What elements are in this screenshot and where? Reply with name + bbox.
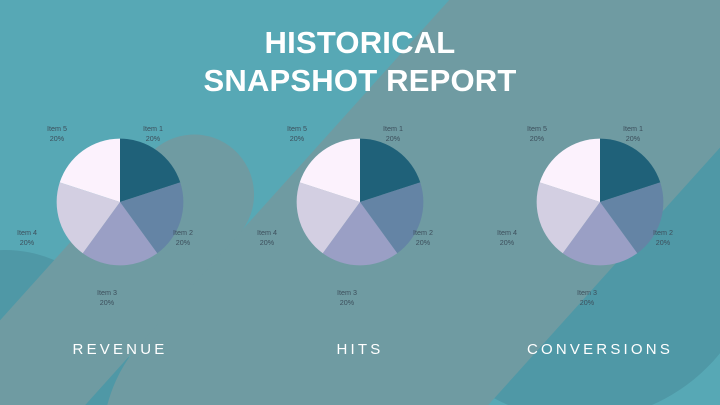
pie-label-item4: Item 4 20% — [257, 228, 277, 249]
pie-label-item5: Item 5 20% — [47, 124, 67, 145]
pie-chart-conversions[interactable] — [534, 136, 666, 268]
chart-caption-hits: HITS — [245, 341, 475, 358]
pie-label-item4: Item 4 20% — [497, 228, 517, 249]
chart-block-conversions: Item 1 20% Item 2 20% Item 3 20% Item 4 … — [485, 118, 715, 368]
pie-label-item5: Item 5 20% — [287, 124, 307, 145]
title-line-1: HISTORICAL — [0, 24, 720, 62]
pie-label-item2: Item 2 20% — [173, 228, 193, 249]
pie-label-item2: Item 2 20% — [413, 228, 433, 249]
pie-label-item2: Item 2 20% — [653, 228, 673, 249]
slide-canvas: HISTORICAL SNAPSHOT REPORT Item 1 — [0, 0, 720, 405]
pie-label-item1: Item 1 20% — [143, 124, 163, 145]
chart-caption-revenue: REVENUE — [5, 341, 235, 358]
pie-svg — [534, 136, 666, 268]
pie-chart-revenue[interactable] — [54, 136, 186, 268]
pie-svg — [54, 136, 186, 268]
pie-label-item3: Item 3 20% — [97, 288, 117, 309]
pie-label-item1: Item 1 20% — [383, 124, 403, 145]
chart-block-hits: Item 1 20% Item 2 20% Item 3 20% Item 4 … — [245, 118, 475, 368]
pie-label-item3: Item 3 20% — [577, 288, 597, 309]
pie-label-item3: Item 3 20% — [337, 288, 357, 309]
charts-row: Item 1 20% Item 2 20% Item 3 20% Item 4 … — [0, 118, 720, 368]
page-title: HISTORICAL SNAPSHOT REPORT — [0, 24, 720, 100]
title-line-2: SNAPSHOT REPORT — [0, 62, 720, 100]
pie-chart-hits[interactable] — [294, 136, 426, 268]
pie-label-item4: Item 4 20% — [17, 228, 37, 249]
chart-caption-conversions: CONVERSIONS — [485, 341, 715, 358]
pie-svg — [294, 136, 426, 268]
pie-label-item5: Item 5 20% — [527, 124, 547, 145]
pie-label-item1: Item 1 20% — [623, 124, 643, 145]
chart-block-revenue: Item 1 20% Item 2 20% Item 3 20% Item 4 … — [5, 118, 235, 368]
